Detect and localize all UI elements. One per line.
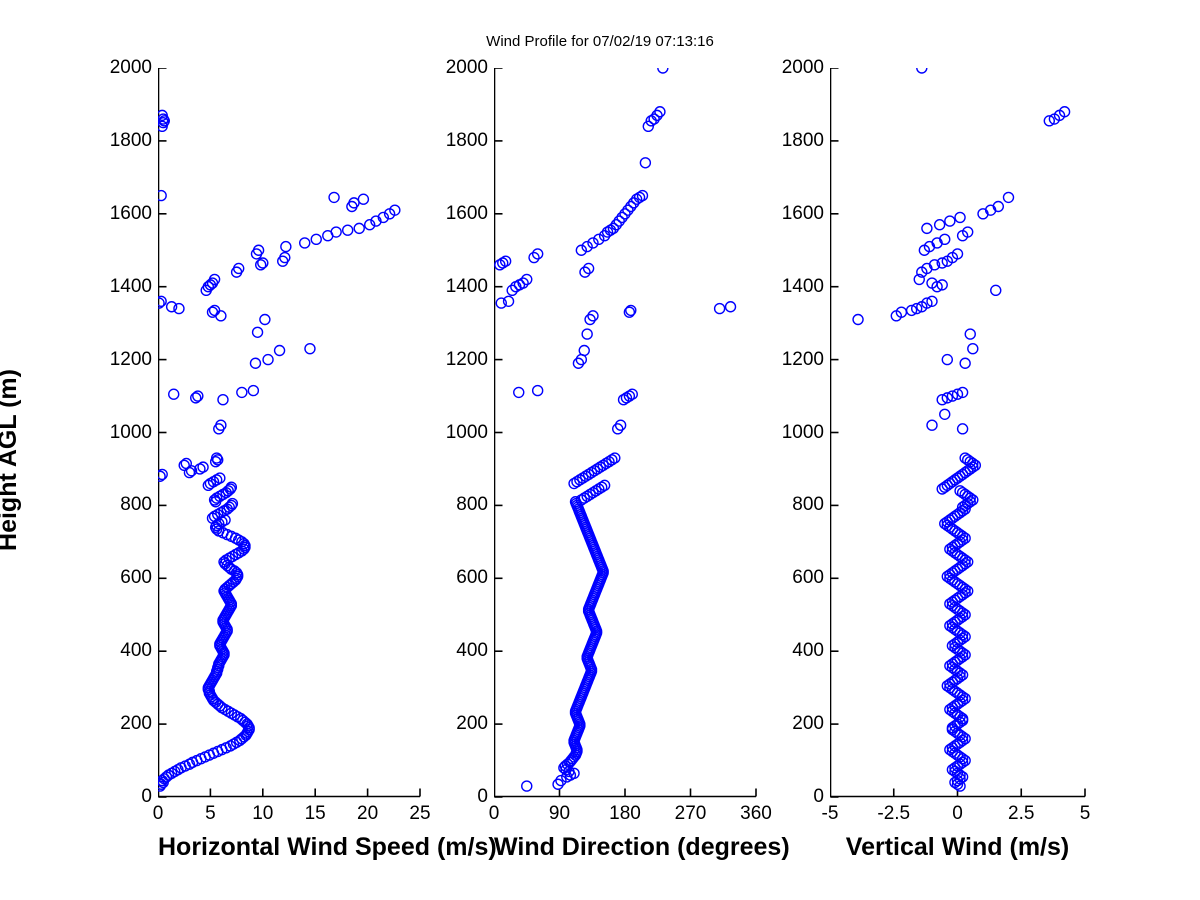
y-tick-label: 1200 — [92, 349, 152, 371]
data-point — [258, 258, 268, 268]
data-point — [210, 305, 220, 315]
y-tick-label: 600 — [428, 567, 488, 589]
data-point — [504, 296, 514, 306]
y-tick-label: 400 — [92, 640, 152, 662]
data-point — [1004, 192, 1014, 202]
data-point — [300, 238, 310, 248]
y-tick-label: 400 — [764, 640, 824, 662]
y-tick-label: 2000 — [764, 57, 824, 79]
data-point — [158, 469, 167, 479]
data-point — [198, 462, 208, 472]
y-tick-label: 1600 — [764, 203, 824, 225]
y-tick-label: 200 — [428, 713, 488, 735]
data-point — [496, 298, 506, 308]
data-point — [281, 242, 291, 252]
data-point — [218, 395, 228, 405]
data-point — [254, 245, 264, 255]
x-axis-label-vertical-wind: Vertical Wind (m/s) — [830, 833, 1085, 862]
data-point — [991, 285, 1001, 295]
data-point — [358, 194, 368, 204]
y-tick-label: 400 — [428, 640, 488, 662]
data-point — [726, 302, 736, 312]
axes-vertical-wind — [830, 68, 1089, 801]
y-tick-label: 800 — [92, 494, 152, 516]
data-point — [329, 192, 339, 202]
data-point — [715, 304, 725, 314]
data-point — [193, 391, 203, 401]
y-tick-label: 1200 — [764, 349, 824, 371]
y-tick-label: 200 — [764, 713, 824, 735]
data-point — [181, 458, 191, 468]
y-axis-label: Height AGL (m) — [0, 300, 23, 620]
data-point — [960, 358, 970, 368]
data-point — [248, 386, 258, 396]
y-tick-label: 200 — [92, 713, 152, 735]
y-tick-label: 1400 — [764, 276, 824, 298]
data-point — [253, 327, 263, 337]
data-point — [917, 68, 927, 73]
y-tick-label: 1600 — [428, 203, 488, 225]
data-point — [250, 358, 260, 368]
data-point — [940, 409, 950, 419]
x-axis-label-wind-direction: Wind Direction (degrees) — [494, 833, 756, 862]
data-point — [216, 420, 226, 430]
x-axis-label-horizontal-wind-speed: Horizontal Wind Speed (m/s) — [158, 833, 420, 862]
data-point — [311, 234, 321, 244]
y-tick-label: 2000 — [428, 57, 488, 79]
data-point — [305, 344, 315, 354]
y-tick-label: 1000 — [764, 422, 824, 444]
x-tick-label: 5 — [1045, 803, 1125, 825]
data-point — [260, 315, 270, 325]
panel-horizontal-wind-speed: 0510152025Horizontal Wind Speed (m/s)020… — [158, 68, 420, 797]
y-tick-label: 0 — [764, 786, 824, 808]
data-point — [343, 225, 353, 235]
data-point — [965, 329, 975, 339]
data-point — [945, 216, 955, 226]
data-point — [935, 220, 945, 230]
data-point — [349, 198, 359, 208]
data-point — [942, 355, 952, 365]
y-tick-label: 800 — [428, 494, 488, 516]
y-tick-label: 1800 — [92, 130, 152, 152]
y-tick-label: 1400 — [92, 276, 152, 298]
data-point — [167, 302, 177, 312]
data-point — [234, 263, 244, 273]
data-point — [579, 345, 589, 355]
y-tick-label: 600 — [92, 567, 152, 589]
axes-horizontal-wind-speed — [158, 68, 424, 801]
y-tick-label: 1800 — [428, 130, 488, 152]
y-tick-label: 600 — [764, 567, 824, 589]
data-point — [853, 315, 863, 325]
y-tick-label: 1000 — [92, 422, 152, 444]
data-point — [927, 420, 937, 430]
y-tick-label: 800 — [764, 494, 824, 516]
data-point — [275, 345, 285, 355]
panel-wind-direction: 090180270360Wind Direction (degrees)0200… — [494, 68, 756, 797]
y-tick-label: 0 — [92, 786, 152, 808]
data-point — [958, 424, 968, 434]
data-point — [522, 781, 532, 791]
y-tick-label: 1800 — [764, 130, 824, 152]
data-point — [955, 212, 965, 222]
data-point — [280, 253, 290, 263]
data-point — [640, 158, 650, 168]
y-tick-label: 1000 — [428, 422, 488, 444]
y-tick-label: 1200 — [428, 349, 488, 371]
data-point — [331, 227, 341, 237]
y-tick-label: 0 — [428, 786, 488, 808]
data-point — [582, 329, 592, 339]
y-tick-label: 2000 — [92, 57, 152, 79]
data-point — [263, 355, 273, 365]
wind-profile-figure: Wind Profile for 07/02/19 07:13:16 Heigh… — [0, 0, 1200, 900]
data-point — [922, 223, 932, 233]
figure-title: Wind Profile for 07/02/19 07:13:16 — [0, 33, 1200, 50]
data-point — [354, 223, 364, 233]
data-point — [533, 386, 543, 396]
y-tick-label: 1600 — [92, 203, 152, 225]
data-point — [169, 389, 179, 399]
data-point — [658, 68, 668, 73]
data-point — [968, 344, 978, 354]
data-point — [237, 387, 247, 397]
data-point — [514, 387, 524, 397]
axes-wind-direction — [494, 68, 760, 801]
y-tick-label: 1400 — [428, 276, 488, 298]
panel-vertical-wind: -5-2.502.55Vertical Wind (m/s)0200400600… — [830, 68, 1085, 797]
data-point — [174, 304, 184, 314]
